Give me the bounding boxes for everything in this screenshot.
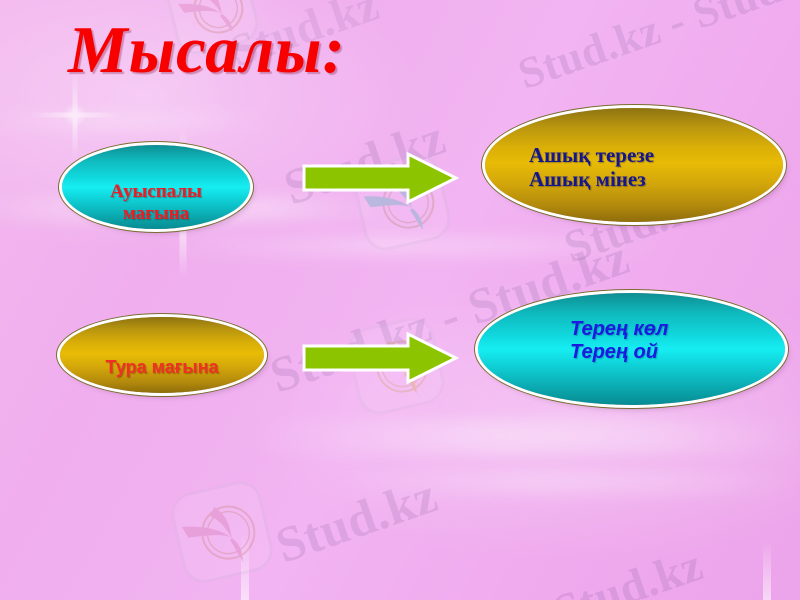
- hummingbird-logo: [167, 477, 277, 587]
- background-streak: [330, 470, 800, 494]
- node-label: Ауыспалы мағына: [62, 181, 250, 225]
- arrow-right-bottom: [300, 330, 460, 386]
- node-label: Терең көл Терең ой: [478, 318, 785, 364]
- arrow-right-top: [300, 150, 460, 206]
- watermark-text: Stud.kz: [547, 538, 709, 600]
- background-streak: [150, 236, 670, 256]
- node-label: Тура мағына: [60, 357, 264, 378]
- sparkle-decoration: [145, 532, 345, 600]
- page-title: Мысалы:: [68, 17, 346, 84]
- node-tura-magyna[interactable]: Тура мағына: [60, 317, 264, 393]
- node-ashyq-tereze[interactable]: Ашық терезе Ашық мінез: [485, 108, 783, 222]
- watermark-text: Stud.kz - Stud.kz: [512, 0, 800, 100]
- node-label: Ашық терезе Ашық мінез: [485, 143, 783, 192]
- node-auyspaly-magyna[interactable]: Ауыспалы мағына: [62, 145, 250, 229]
- background-streak: [0, 112, 270, 130]
- watermark-text: Stud.kz: [269, 466, 445, 575]
- sparkle-decoration: [662, 540, 800, 600]
- node-teren-kol[interactable]: Терең көл Терең ой: [478, 293, 785, 405]
- background-streak: [250, 420, 800, 454]
- slide-canvas: Stud.kz Stud.kz - Stud.kz Stud.kz Stud.k…: [0, 0, 800, 600]
